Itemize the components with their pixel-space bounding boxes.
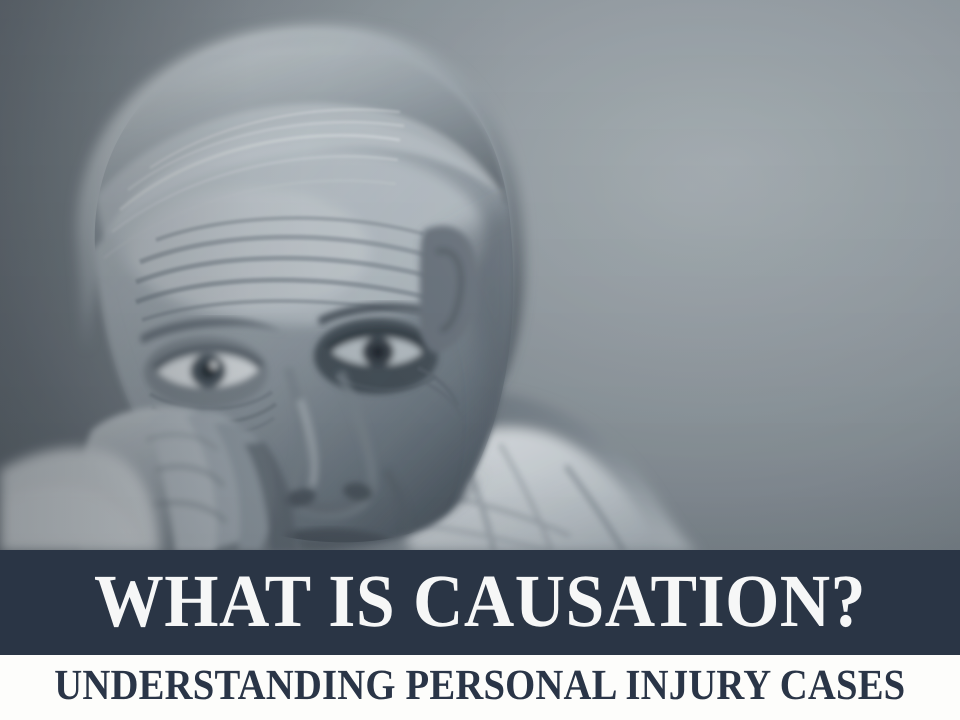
hero-photo: [0, 0, 960, 552]
title-slide: WHAT IS CAUSATION? UNDERSTANDING PERSONA…: [0, 0, 960, 720]
portrait-illustration: [0, 0, 960, 552]
slide-title: WHAT IS CAUSATION?: [94, 564, 866, 639]
title-band: WHAT IS CAUSATION?: [0, 550, 960, 655]
slide-subtitle: UNDERSTANDING PERSONAL INJURY CASES: [54, 664, 905, 707]
subtitle-strip: UNDERSTANDING PERSONAL INJURY CASES: [0, 655, 960, 720]
